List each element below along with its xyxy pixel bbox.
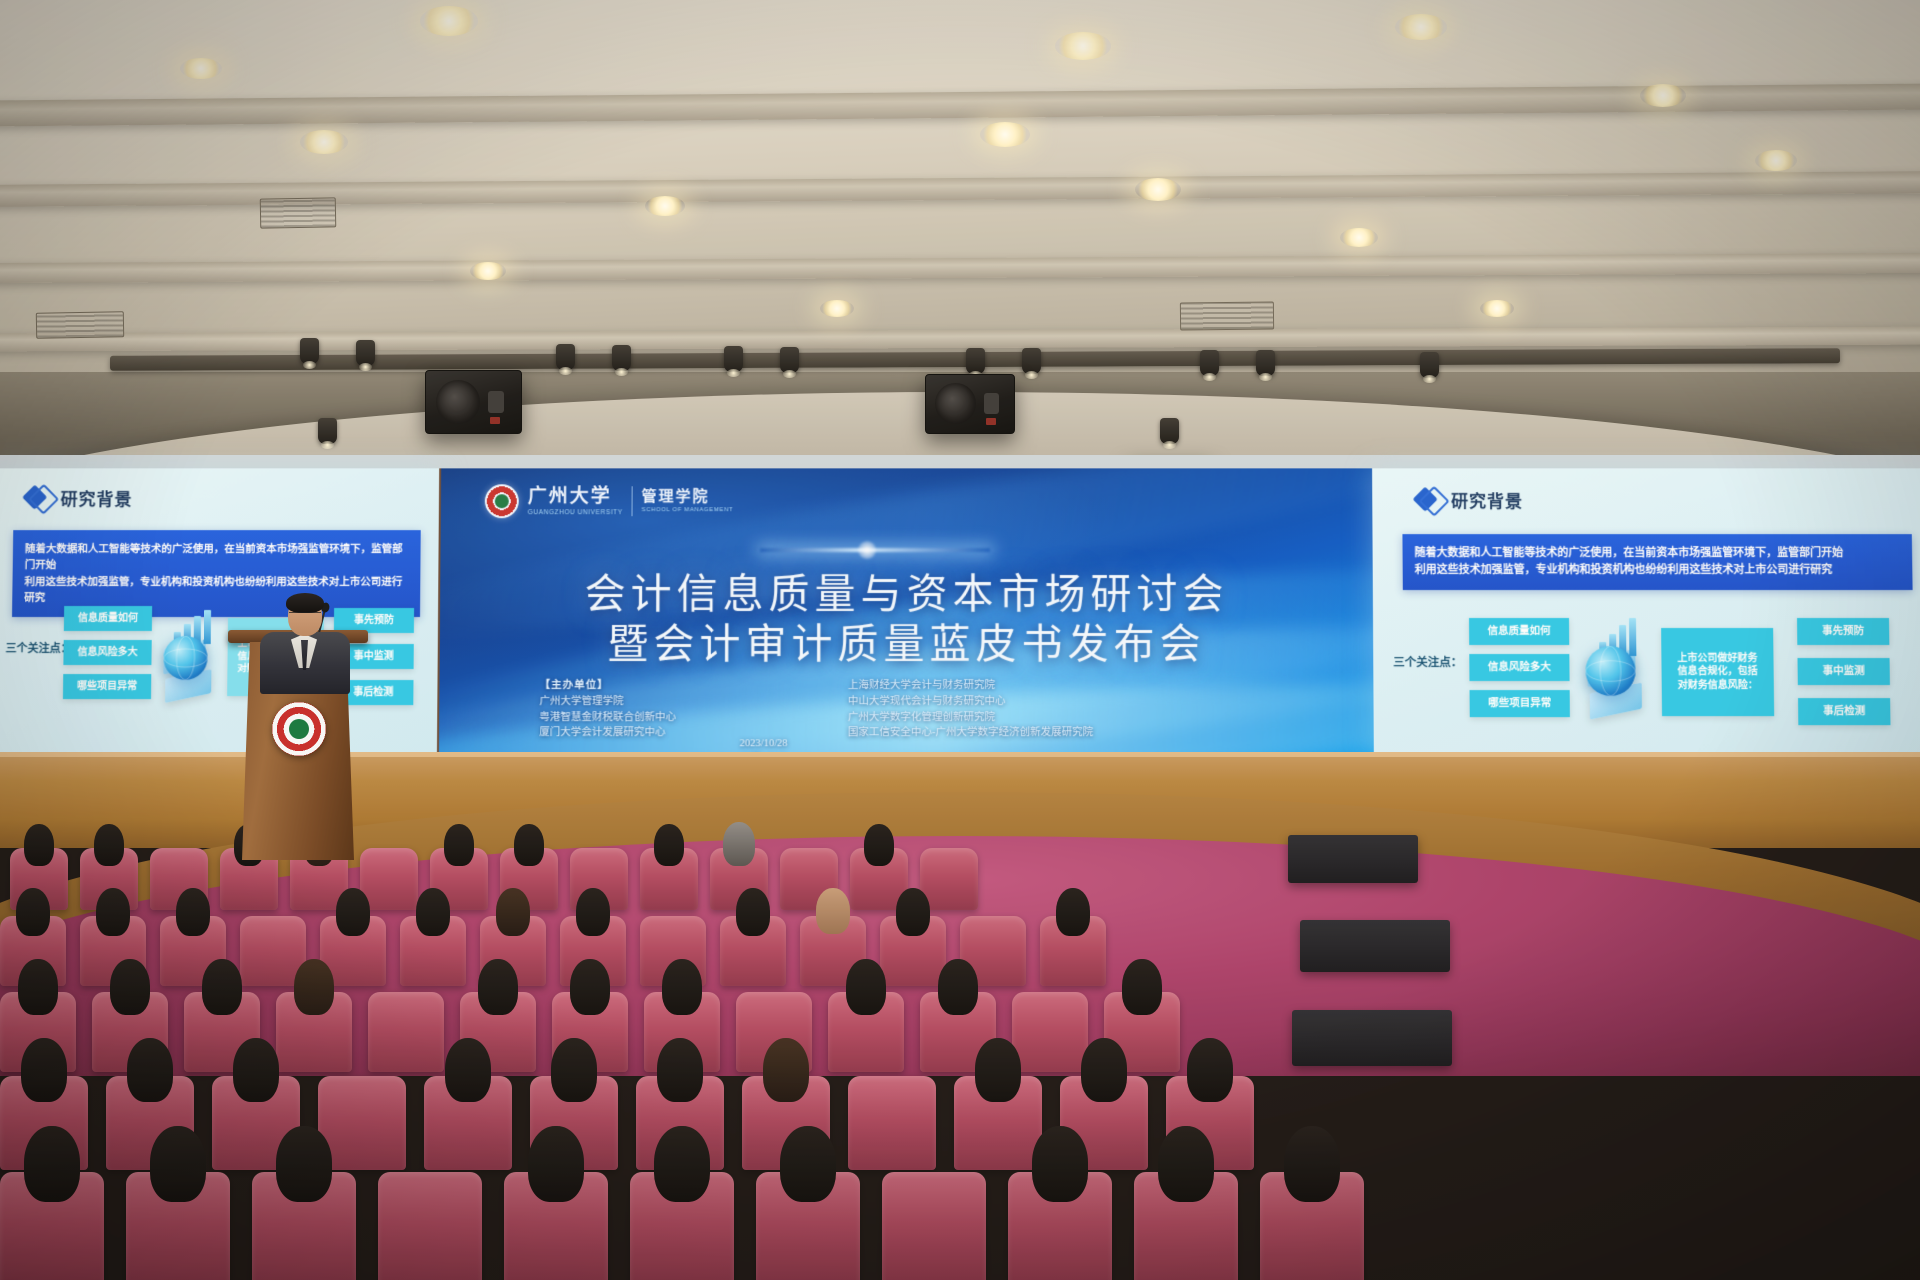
- air-vent-icon: [1180, 302, 1274, 331]
- diamond-section-icon: [1416, 486, 1442, 512]
- audience-seat: [630, 1172, 734, 1280]
- logo-divider: [632, 486, 633, 516]
- main-led-screen: 广州大学 GUANGZHOU UNIVERSITY 管理学院 SCHOOL OF…: [439, 468, 1374, 760]
- stage-item-1: 事先预防: [1797, 618, 1889, 645]
- audience-seat: [0, 1172, 104, 1280]
- audience-seat: [880, 916, 946, 986]
- audience-seating: [0, 900, 1920, 1280]
- decorative-light-streak: [760, 548, 990, 552]
- organizer-right-4: 国家工信安全中心-广州大学数字经济创新发展研究院: [848, 727, 1093, 738]
- presenter-hair: [286, 593, 324, 613]
- organizers-heading: 【主办单位】: [540, 680, 609, 691]
- air-vent-icon: [36, 311, 124, 339]
- stage-spotlight-icon: [1420, 352, 1439, 378]
- slide-section-title: 研究背景: [60, 485, 132, 510]
- audience-seat: [504, 1172, 608, 1280]
- audience-seat: [756, 1172, 860, 1280]
- right-block-line2: 信息合规化，包括: [1678, 665, 1758, 679]
- stage-spotlight-icon: [556, 344, 575, 370]
- university-name-cn: 广州大学: [528, 487, 623, 506]
- presenter-glasses: [289, 612, 321, 619]
- audience-seat: [954, 1076, 1042, 1170]
- audience-seat: [720, 916, 786, 986]
- audience-seat: [920, 848, 978, 910]
- slide-body-box: 随着大数据和人工智能等技术的广泛使用，在当前资本市场强监管环境下，监管部门开始 …: [1402, 534, 1912, 590]
- school-name-en: SCHOOL OF MANAGEMENT: [642, 507, 734, 513]
- audience-seat: [1260, 1172, 1364, 1280]
- stage-spotlight-icon: [356, 340, 375, 366]
- focus-item-1: 信息质量如何: [1469, 618, 1569, 645]
- audience-seat: [276, 992, 352, 1072]
- right-info-block: 上市公司做好财务 信息合规化，包括 对财务信息风险：: [1661, 628, 1774, 716]
- university-seal-icon: [272, 702, 326, 756]
- recessed-downlight-icon: [180, 58, 222, 79]
- slide-section-title: 研究背景: [1451, 487, 1523, 512]
- organizer-left-1: 广州大学管理学院: [539, 696, 623, 707]
- organizer-right-1: 上海财经大学会计与财务研究院: [848, 680, 995, 691]
- organizers-left-column: 【主办单位】 广州大学管理学院 粤港智慧金财税联合创新中心 厦门大学会计发展研究…: [539, 678, 676, 741]
- focus-label: 三个关注点：: [5, 640, 71, 656]
- right-block-line3: 对财务信息风险：: [1678, 679, 1758, 693]
- globe-data-icon: [1585, 646, 1636, 696]
- slide-section-header: 研究背景: [26, 484, 133, 510]
- stage-spotlight-icon: [1256, 350, 1275, 376]
- left-projection-slide: 研究背景 随着大数据和人工智能等技术的广泛使用，在当前资本市场强监管环境下，监管…: [0, 468, 441, 760]
- stage-spotlight-icon: [612, 345, 631, 371]
- right-projection-slide: 研究背景 随着大数据和人工智能等技术的广泛使用，在当前资本市场强监管环境下，监管…: [1372, 468, 1920, 760]
- organizer-left-2: 粤港智慧金财税联合创新中心: [539, 712, 676, 723]
- university-seal-icon: [485, 484, 519, 518]
- recessed-downlight-icon: [420, 6, 478, 36]
- focus-item-2: 信息风险多大: [63, 640, 151, 665]
- university-name-en: GUANGZHOU UNIVERSITY: [528, 509, 623, 516]
- audience-seat: [360, 848, 418, 910]
- stage-item-3: 事后检测: [1798, 698, 1890, 725]
- organizer-right-3: 广州大学数字化管理创新研究院: [848, 712, 995, 723]
- stage-spotlight-icon: [780, 347, 799, 373]
- stage-item-2: 事中监测: [1797, 658, 1889, 685]
- audience-seat: [424, 1076, 512, 1170]
- audience-seat: [848, 1076, 936, 1170]
- stage-spotlight-icon: [1022, 348, 1041, 374]
- audience-seat: [1012, 992, 1088, 1072]
- audience-seat: [1134, 1172, 1238, 1280]
- recessed-downlight-icon: [1395, 14, 1447, 40]
- stage-spotlight-icon: [724, 346, 743, 372]
- slide-body-line1: 随着大数据和人工智能等技术的广泛使用，在当前资本市场强监管环境下，监管部门开始: [25, 541, 409, 573]
- audience-seat: [882, 1172, 986, 1280]
- audience-seat: [400, 916, 466, 986]
- stage-spotlight-icon: [1200, 350, 1219, 376]
- audience-seat: [368, 992, 444, 1072]
- recessed-downlight-icon: [645, 196, 685, 216]
- recessed-downlight-icon: [980, 122, 1030, 147]
- slide-body-line1: 随着大数据和人工智能等技术的广泛使用，在当前资本市场强监管环境下，监管部门开始: [1415, 545, 1901, 562]
- audience-seat: [640, 848, 698, 910]
- recessed-downlight-icon: [1755, 150, 1797, 171]
- audience-seat: [378, 1172, 482, 1280]
- audience-seat: [1008, 1172, 1112, 1280]
- focus-item-3: 哪些项目异常: [63, 674, 151, 699]
- school-name-cn: 管理学院: [642, 489, 734, 504]
- presenter-person: [258, 596, 350, 692]
- stage-spotlight-icon: [318, 418, 337, 444]
- focus-item-2: 信息风险多大: [1469, 654, 1569, 681]
- audience-seat: [828, 992, 904, 1072]
- diamond-section-icon: [26, 484, 52, 510]
- organizer-right-2: 中山大学现代会计与财务研究中心: [848, 696, 1006, 707]
- recessed-downlight-icon: [1055, 32, 1111, 60]
- air-vent-icon: [260, 197, 337, 228]
- seat-row: [0, 1172, 1920, 1280]
- event-title-line2: 暨会计审计质量蓝皮书发布会: [440, 610, 1374, 670]
- ceiling-beam: [0, 253, 1920, 284]
- slide-body-box: 随着大数据和人工智能等技术的广泛使用，在当前资本市场强监管环境下，监管部门开始 …: [12, 530, 421, 617]
- slide-body-line2: 利用这些技术加强监管，专业机构和投资机构也纷纷利用这些技术对上市公司进行研究: [24, 574, 408, 606]
- seat-row: [0, 992, 1920, 1072]
- right-block-line1: 上市公司做好财务: [1677, 652, 1757, 666]
- recessed-downlight-icon: [1640, 84, 1686, 107]
- recessed-downlight-icon: [1135, 178, 1181, 201]
- recessed-downlight-icon: [1340, 228, 1378, 247]
- event-date: 2023/10/28: [740, 736, 788, 752]
- stage-spotlight-icon: [1160, 418, 1179, 444]
- slide-body-line2: 利用这些技术加强监管，专业机构和投资机构也纷纷利用这些技术对上市公司进行研究: [1415, 562, 1901, 579]
- recessed-downlight-icon: [470, 262, 506, 280]
- slide-section-header: 研究背景: [1416, 486, 1523, 512]
- pa-speaker-icon: [425, 370, 522, 434]
- audience-seat: [126, 1172, 230, 1280]
- ceiling-beam: [0, 326, 1920, 351]
- audience-seat: [1040, 916, 1106, 986]
- conference-photo: 研究背景 随着大数据和人工智能等技术的广泛使用，在当前资本市场强监管环境下，监管…: [0, 0, 1920, 1280]
- focus-label: 三个关注点：: [1393, 654, 1462, 670]
- stage-spotlight-icon: [300, 338, 319, 364]
- stage-spotlight-icon: [966, 348, 985, 374]
- university-logo: 广州大学 GUANGZHOU UNIVERSITY 管理学院 SCHOOL OF…: [485, 484, 734, 518]
- recessed-downlight-icon: [820, 300, 854, 317]
- ceiling: [0, 0, 1920, 470]
- ceiling-beam: [0, 83, 1920, 127]
- pa-speaker-icon: [925, 374, 1015, 434]
- organizers-right-column: 上海财经大学会计与财务研究院 中山大学现代会计与财务研究中心 广州大学数字化管理…: [848, 678, 1093, 741]
- focus-item-1: 信息质量如何: [64, 606, 152, 631]
- focus-item-3: 哪些项目异常: [1470, 690, 1570, 717]
- recessed-downlight-icon: [1480, 300, 1514, 317]
- organizer-left-3: 厦门大学会计发展研究中心: [539, 727, 665, 738]
- recessed-downlight-icon: [300, 130, 348, 154]
- audience-seat: [252, 1172, 356, 1280]
